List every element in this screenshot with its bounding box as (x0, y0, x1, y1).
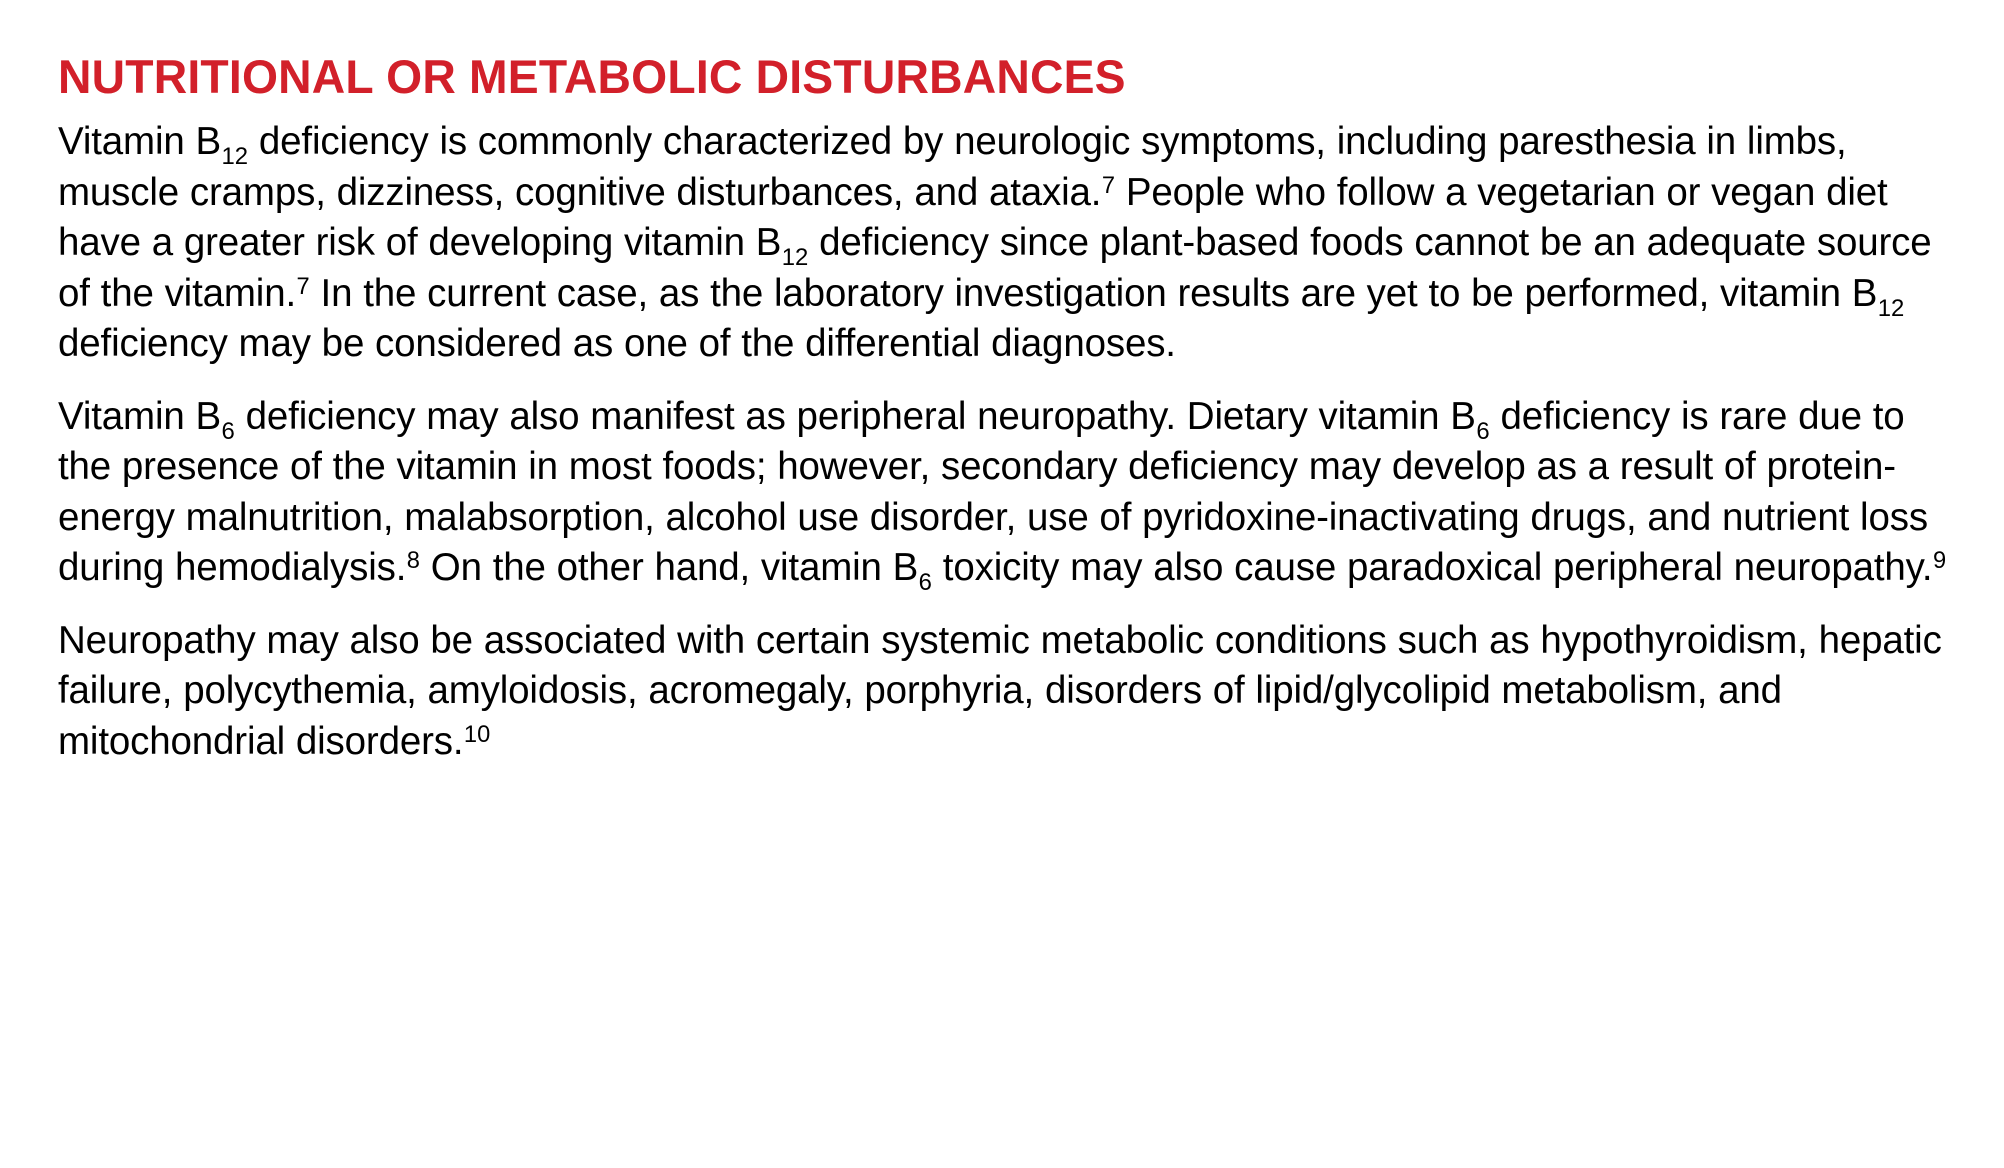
chemical-subscript: 12 (221, 143, 248, 170)
citation-superscript: 7 (1101, 173, 1115, 199)
chemical-subscript: 6 (918, 569, 932, 596)
document-page: NUTRITIONAL OR METABOLIC DISTURBANCES Vi… (0, 0, 2004, 1168)
citation-superscript: 9 (1932, 548, 1946, 574)
citation-superscript: 7 (296, 274, 310, 300)
page-title: NUTRITIONAL OR METABOLIC DISTURBANCES (58, 52, 1935, 101)
paragraph-2: Vitamin B6 deficiency may also manifest … (58, 392, 1964, 594)
body-copy: Vitamin B12 deficiency is commonly chara… (58, 117, 1964, 767)
chemical-subscript: 12 (1877, 295, 1904, 322)
chemical-subscript: 6 (221, 418, 235, 445)
paragraph-3: Neuropathy may also be associated with c… (58, 616, 1964, 768)
chemical-subscript: 12 (781, 244, 808, 271)
citation-superscript: 8 (406, 548, 420, 574)
chemical-subscript: 6 (1476, 418, 1490, 445)
citation-superscript: 10 (463, 722, 490, 748)
paragraph-1: Vitamin B12 deficiency is commonly chara… (58, 117, 1964, 370)
